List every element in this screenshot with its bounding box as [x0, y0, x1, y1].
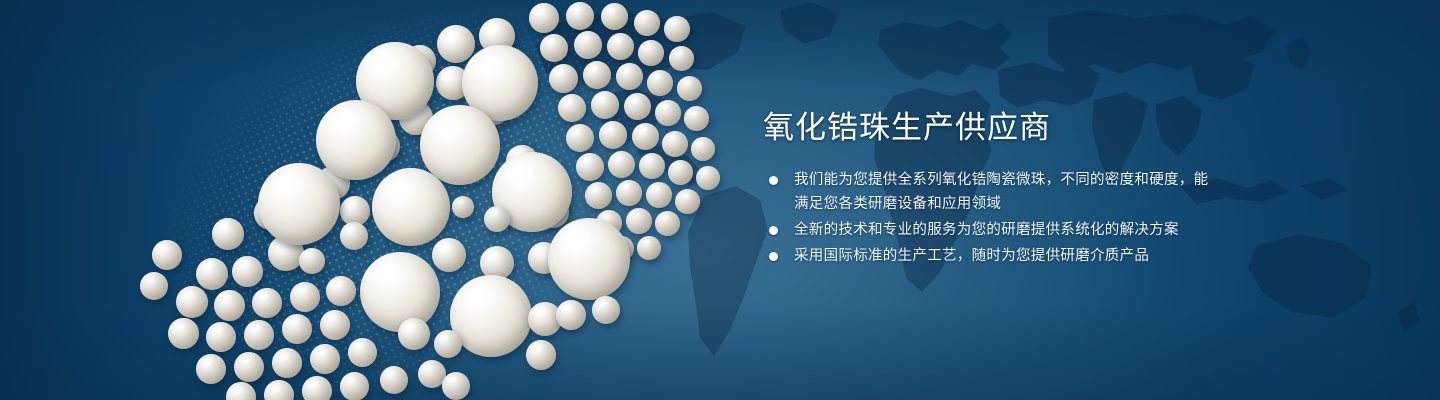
bead — [549, 64, 578, 93]
bead — [214, 290, 245, 321]
bead — [608, 151, 635, 178]
bead — [282, 314, 312, 344]
bead — [639, 153, 665, 179]
bead — [591, 91, 619, 119]
bead — [664, 16, 690, 42]
bead — [601, 3, 628, 30]
list-item-label: 我们能为您提供全系列氧化锆陶瓷微珠，不同的密度和硬度，能满足您各类研磨设备和应用… — [794, 168, 1212, 216]
bead — [566, 2, 594, 30]
bead — [662, 131, 688, 157]
list-item-label: 全新的技术和专业的服务为您的研磨提供系统化的解决方案 — [794, 218, 1212, 242]
bullet-dot-icon — [769, 176, 778, 185]
page-title: 氧化锆珠生产供应商 — [763, 108, 1051, 148]
bead — [558, 94, 586, 122]
list-item: 采用国际标准的生产工艺，随时为您提供研磨介质产品 — [767, 244, 1212, 268]
bead — [234, 352, 264, 382]
bead — [626, 208, 652, 234]
bead — [638, 40, 664, 66]
bead — [372, 168, 450, 246]
bead — [226, 382, 256, 400]
bead — [168, 318, 199, 349]
bead — [450, 275, 532, 357]
bead — [655, 100, 681, 126]
bead — [326, 276, 356, 306]
bead — [232, 256, 263, 287]
bead — [540, 34, 568, 62]
bead — [624, 93, 651, 120]
bead — [452, 196, 474, 218]
bead — [592, 296, 620, 324]
bead — [616, 63, 643, 90]
feature-list: 我们能为您提供全系列氧化锆陶瓷微珠，不同的密度和硬度，能满足您各类研磨设备和应用… — [767, 168, 1212, 270]
bead — [647, 70, 673, 96]
bead — [677, 76, 702, 101]
bead — [290, 282, 320, 312]
bead — [634, 10, 660, 36]
bead — [655, 211, 680, 236]
bead — [340, 372, 369, 400]
bead — [566, 124, 594, 152]
bead — [310, 344, 340, 374]
bead — [646, 182, 672, 208]
bead — [599, 121, 627, 149]
bead — [340, 222, 368, 250]
bullet-dot-icon — [769, 252, 778, 261]
bead — [434, 330, 462, 358]
bead — [684, 106, 709, 131]
hero-banner: 氧化锆珠生产供应商 我们能为您提供全系列氧化锆陶瓷微珠，不同的密度和硬度，能满足… — [0, 0, 1440, 400]
bead — [632, 123, 659, 150]
bead — [442, 372, 470, 400]
bead — [556, 300, 586, 330]
bead — [360, 252, 440, 332]
bead — [432, 238, 466, 272]
bead — [637, 236, 661, 260]
bead — [140, 272, 168, 300]
banner-copy: 氧化锆珠生产供应商 我们能为您提供全系列氧化锆陶瓷微珠，不同的密度和硬度，能满足… — [763, 0, 1233, 400]
bead — [583, 61, 611, 89]
bead — [669, 46, 694, 71]
bead — [316, 100, 396, 180]
bead — [258, 163, 340, 245]
bead — [437, 25, 475, 63]
bead — [529, 3, 559, 33]
bead — [348, 338, 377, 367]
bead — [212, 218, 244, 250]
bead — [176, 286, 208, 318]
bead — [607, 33, 634, 60]
bead — [196, 354, 226, 384]
bead — [152, 240, 182, 270]
bead — [244, 320, 274, 350]
bead — [264, 380, 294, 400]
list-item-label: 采用国际标准的生产工艺，随时为您提供研磨介质产品 — [794, 244, 1212, 268]
bead — [206, 322, 236, 352]
bead — [696, 166, 720, 190]
bullet-dot-icon — [769, 226, 778, 235]
bead — [576, 153, 604, 181]
bead — [398, 318, 430, 350]
bead — [320, 310, 350, 340]
bead — [299, 248, 325, 274]
bead — [252, 288, 282, 318]
bead — [691, 137, 715, 161]
bead — [420, 105, 500, 185]
bead — [196, 258, 228, 290]
zirconia-bead-cluster — [0, 0, 760, 400]
bead — [574, 31, 602, 59]
bead — [548, 218, 630, 300]
bead — [675, 189, 700, 214]
bead — [585, 182, 612, 209]
bead — [302, 376, 332, 400]
bead — [484, 206, 510, 232]
bead — [668, 160, 693, 185]
bead — [616, 180, 642, 206]
bead — [272, 348, 302, 378]
bead — [380, 366, 408, 394]
list-item: 我们能为您提供全系列氧化锆陶瓷微珠，不同的密度和硬度，能满足您各类研磨设备和应用… — [767, 168, 1212, 216]
bead — [526, 340, 556, 370]
list-item: 全新的技术和专业的服务为您的研磨提供系统化的解决方案 — [767, 218, 1212, 242]
